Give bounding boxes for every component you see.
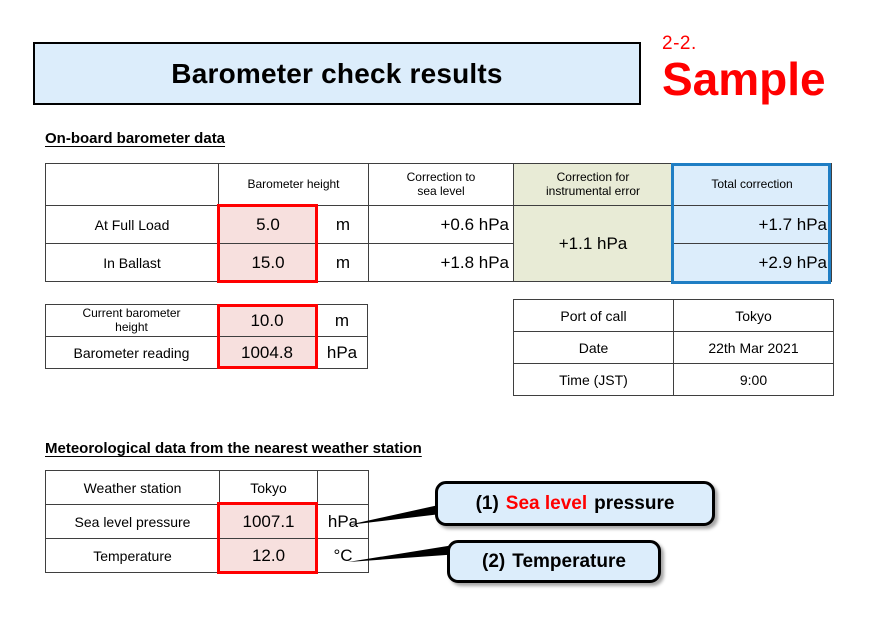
header-correction-sea-level: Correction to sea level	[369, 164, 514, 206]
row-label-weather-station: Weather station	[46, 471, 220, 505]
table-row: Barometer reading 1004.8 hPa	[46, 337, 368, 369]
table-row: Temperature 12.0 °C	[46, 539, 369, 573]
row-label-time-jst: Time (JST)	[514, 364, 674, 396]
cell-total-correction-full-load: +1.7 hPa	[673, 206, 832, 244]
cell-sea-level-pressure-value: 1007.1	[220, 505, 318, 539]
port-call-table: Port of call Tokyo Date 22th Mar 2021 Ti…	[513, 299, 834, 396]
callout-sea-level-index: (1)	[476, 493, 499, 515]
row-label-date: Date	[514, 332, 674, 364]
callout-sea-level-highlight: Sea level	[506, 493, 587, 515]
table-row: Weather station Tokyo	[46, 471, 369, 505]
row-label-current-barometer-height: Current barometer height	[46, 305, 218, 337]
row-label-sea-level-pressure: Sea level pressure	[46, 505, 220, 539]
cell-date-value: 22th Mar 2021	[674, 332, 834, 364]
current-height-label-line1: Current barometer	[50, 307, 213, 320]
callout-sea-level-rest: pressure	[594, 493, 674, 515]
cell-barometer-reading-value: 1004.8	[218, 337, 317, 369]
cell-temperature-value: 12.0	[220, 539, 318, 573]
page-title-banner: Barometer check results	[33, 42, 641, 105]
table-row: Date 22th Mar 2021	[514, 332, 834, 364]
table-row: Current barometer height 10.0 m	[46, 305, 368, 337]
page-title: Barometer check results	[171, 58, 502, 90]
onboard-barometer-table: Barometer height Correction to sea level…	[45, 163, 832, 282]
table-row: In Ballast 15.0 m +1.8 hPa +2.9 hPa	[46, 244, 832, 282]
cell-total-correction-in-ballast: +2.9 hPa	[673, 244, 832, 282]
cell-sea-level-correction-in-ballast: +1.8 hPa	[369, 244, 514, 282]
cell-sea-level-correction-full-load: +0.6 hPa	[369, 206, 514, 244]
section-heading-onboard: On-board barometer data	[45, 130, 225, 147]
callout-temperature-text: Temperature	[512, 551, 626, 573]
sample-stamp: 2-2. Sample	[662, 34, 862, 103]
callout-temperature-index: (2)	[482, 551, 505, 573]
row-label-temperature: Temperature	[46, 539, 220, 573]
current-height-label-line2: height	[50, 321, 213, 334]
row-label-full-load: At Full Load	[46, 206, 219, 244]
cell-height-in-ballast: 15.0	[219, 244, 318, 282]
cell-current-barometer-height-value: 10.0	[218, 305, 317, 337]
section-heading-meteorological: Meteorological data from the nearest wea…	[45, 440, 422, 457]
cell-weather-station-value: Tokyo	[220, 471, 318, 505]
cell-port-of-call-value: Tokyo	[674, 300, 834, 332]
cell-instrumental-error-correction: +1.1 hPa	[514, 206, 673, 282]
header-blank	[46, 164, 219, 206]
callout-sea-level-pressure: (1) Sea level pressure	[435, 481, 715, 526]
table-row: Time (JST) 9:00	[514, 364, 834, 396]
sample-section-number: 2-2.	[662, 34, 862, 53]
row-label-barometer-reading: Barometer reading	[46, 337, 218, 369]
header-total-correction: Total correction	[673, 164, 832, 206]
header-correction-instrumental-error: Correction for instrumental error	[514, 164, 673, 206]
cell-time-jst-value: 9:00	[674, 364, 834, 396]
header-correction-instrument-line2: instrumental error	[518, 185, 668, 198]
cell-current-barometer-height-unit: m	[317, 305, 368, 337]
header-correction-instrument-line1: Correction for	[518, 171, 668, 184]
cell-height-unit-full-load: m	[318, 206, 369, 244]
row-label-in-ballast: In Ballast	[46, 244, 219, 282]
header-correction-sea-level-line1: Correction to	[373, 171, 509, 184]
header-correction-sea-level-line2: sea level	[373, 185, 509, 198]
table-row: Sea level pressure 1007.1 hPa	[46, 505, 369, 539]
table-row: At Full Load 5.0 m +0.6 hPa +1.1 hPa +1.…	[46, 206, 832, 244]
meteorological-data-table: Weather station Tokyo Sea level pressure…	[45, 470, 369, 573]
row-label-port-of-call: Port of call	[514, 300, 674, 332]
header-barometer-height: Barometer height	[219, 164, 369, 206]
sample-watermark-text: Sample	[662, 55, 862, 103]
cell-height-full-load: 5.0	[219, 206, 318, 244]
table-header-row: Barometer height Correction to sea level…	[46, 164, 832, 206]
cell-height-unit-in-ballast: m	[318, 244, 369, 282]
table-row: Port of call Tokyo	[514, 300, 834, 332]
callout-temperature: (2) Temperature	[447, 540, 661, 583]
current-barometer-table: Current barometer height 10.0 m Baromete…	[45, 304, 368, 369]
cell-barometer-reading-unit: hPa	[317, 337, 368, 369]
